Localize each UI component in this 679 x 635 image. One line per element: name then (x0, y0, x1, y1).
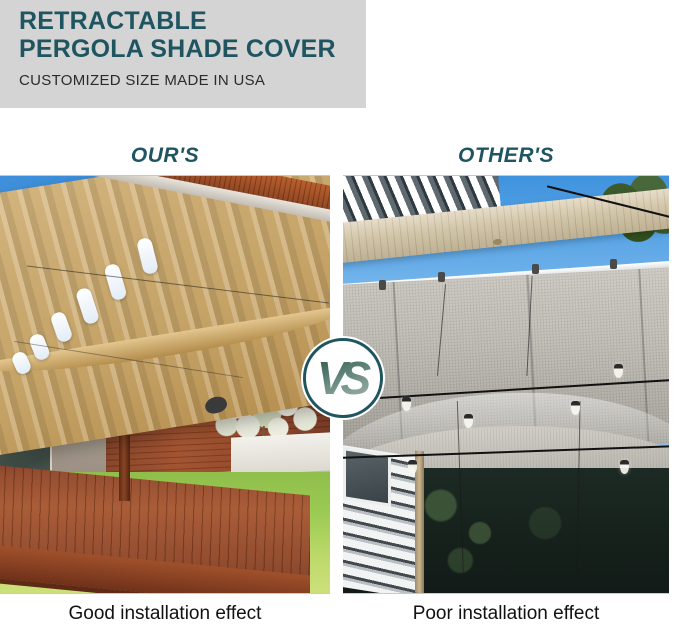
white-planter (231, 432, 330, 475)
light-bulb (614, 364, 623, 378)
title-line-2: PERGOLA SHADE COVER (19, 35, 364, 63)
mesh-clip (379, 280, 386, 290)
right-scene (343, 176, 669, 593)
page-title: RETRACTABLE PERGOLA SHADE COVER (19, 7, 364, 63)
column-title-others: OTHER'S (343, 144, 669, 168)
mesh-clip (610, 259, 617, 269)
vs-badge: VS (303, 338, 383, 418)
left-scene (0, 176, 330, 593)
page-subtitle: CUSTOMIZED SIZE MADE IN USA (19, 72, 265, 89)
photo-poor-installation (343, 175, 669, 594)
caption-good-installation: Good installation effect (0, 603, 330, 625)
mesh-clip (438, 272, 445, 282)
wood-post (415, 451, 424, 593)
mesh-clip (532, 264, 539, 274)
light-bulb (402, 397, 411, 411)
light-bulb (620, 460, 629, 474)
column-title-ours: OUR'S (0, 144, 330, 168)
light-bulb (408, 460, 417, 474)
header-banner: RETRACTABLE PERGOLA SHADE COVER CUSTOMIZ… (0, 0, 366, 108)
caption-poor-installation: Poor installation effect (343, 603, 669, 625)
title-line-1: RETRACTABLE (19, 7, 207, 35)
vs-label: VS (306, 341, 380, 415)
photo-good-installation (0, 175, 330, 594)
light-bulb (464, 414, 473, 428)
